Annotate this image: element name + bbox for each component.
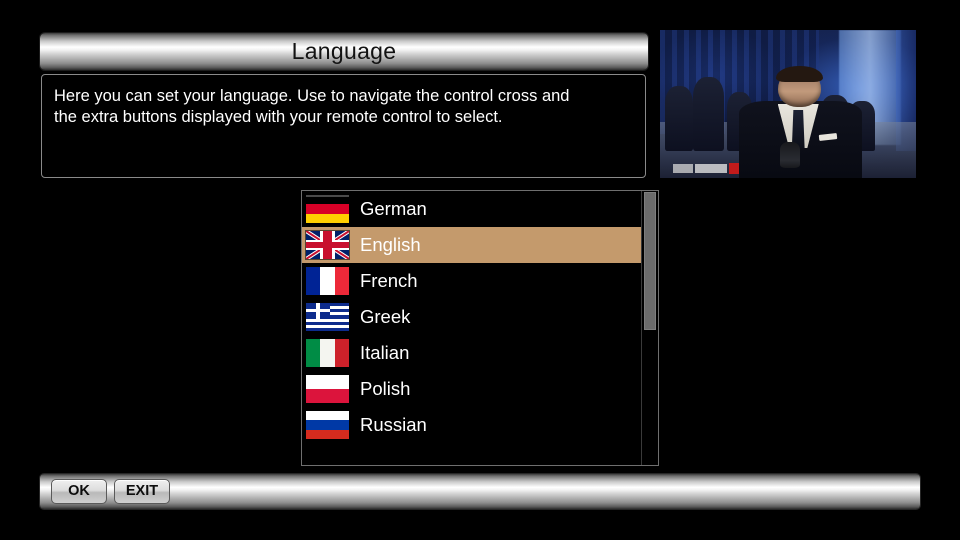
flag-united-kingdom-icon <box>306 231 349 259</box>
footer-bar: OK EXIT <box>40 474 920 509</box>
channel-bug-text <box>695 164 727 173</box>
preview-microphone <box>780 142 799 167</box>
list-item[interactable]: French <box>302 263 642 299</box>
list-item-label: Greek <box>360 308 410 327</box>
list-item[interactable]: Greek <box>302 299 642 335</box>
list-item[interactable]: Russian <box>302 407 642 443</box>
list-item-label: German <box>360 200 427 219</box>
list-item-label: Russian <box>360 416 427 435</box>
list-item[interactable]: German <box>302 191 642 227</box>
page-title: Language <box>292 40 397 63</box>
channel-bug-accent <box>729 163 739 174</box>
flag-poland-icon <box>306 375 349 403</box>
list-item-label: French <box>360 272 418 291</box>
preview-pocket-square <box>818 133 836 141</box>
scrollbar[interactable] <box>641 191 658 465</box>
exit-button[interactable]: EXIT <box>114 479 170 504</box>
flag-italy-icon <box>306 339 349 367</box>
live-tv-preview[interactable] <box>660 30 916 178</box>
ok-button[interactable]: OK <box>51 479 107 504</box>
title-bar: Language <box>40 33 648 70</box>
language-list[interactable]: German English French <box>301 190 659 466</box>
channel-bug-mark <box>673 164 693 173</box>
description-text: Here you can set your language. Use to n… <box>54 86 633 128</box>
flag-france-icon <box>306 267 349 295</box>
preview-crowd-person <box>693 77 724 151</box>
list-item-label: English <box>360 236 421 255</box>
preview-crowd-person <box>665 86 693 151</box>
list-item-label: Italian <box>360 344 409 363</box>
list-item[interactable]: Italian <box>302 335 642 371</box>
description-panel: Here you can set your language. Use to n… <box>41 74 646 178</box>
channel-bug <box>673 162 750 175</box>
flag-russia-icon <box>306 411 349 439</box>
tv-settings-screen: Language Here you can set your language.… <box>0 0 960 540</box>
flag-germany-icon <box>306 195 349 223</box>
list-item-label: Polish <box>360 380 410 399</box>
flag-greece-icon <box>306 303 349 331</box>
list-item[interactable]: Polish <box>302 371 642 407</box>
scrollbar-thumb[interactable] <box>644 192 656 330</box>
list-item[interactable]: English <box>302 227 642 263</box>
